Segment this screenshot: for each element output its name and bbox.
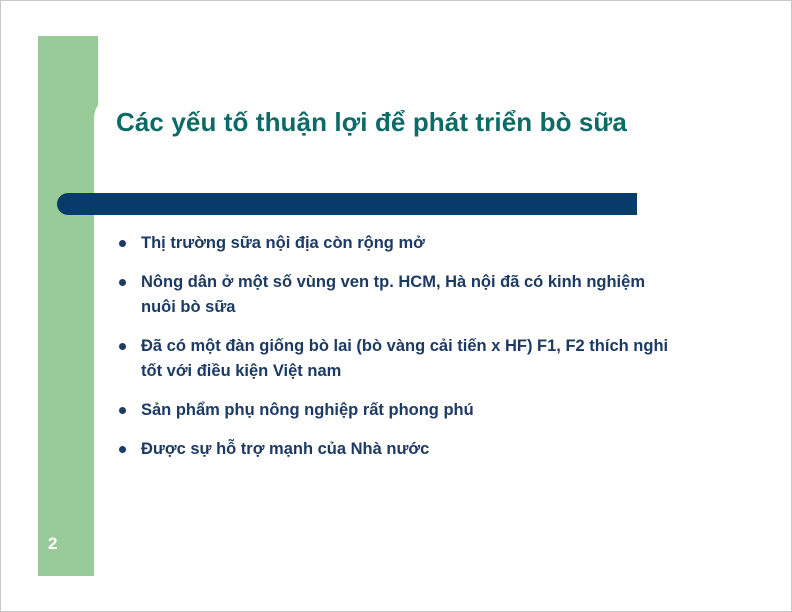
list-item: Được sự hỗ trợ mạnh của Nhà nước <box>114 437 674 462</box>
list-item-text: Sản phẩm phụ nông nghiệp rất phong phú <box>141 401 474 419</box>
list-item-text: Thị trường sữa nội địa còn rộng mở <box>141 234 425 252</box>
list-item-text: Đã có một đàn giống bò lai (bò vàng cải … <box>141 337 668 380</box>
bullet-dot-icon <box>119 407 126 414</box>
list-item: Đã có một đàn giống bò lai (bò vàng cải … <box>114 334 674 384</box>
list-item: Nông dân ở một số vùng ven tp. HCM, Hà n… <box>114 270 674 320</box>
list-item: Sản phẩm phụ nông nghiệp rất phong phú <box>114 398 674 423</box>
list-item: Thị trường sữa nội địa còn rộng mở <box>114 231 674 256</box>
bullet-list: Thị trường sữa nội địa còn rộng mở Nông … <box>114 231 674 463</box>
slide-canvas: Các yếu tố thuận lợi để phát triển bò sữ… <box>0 0 792 612</box>
bullet-dot-icon <box>119 446 126 453</box>
slide-number: 2 <box>48 534 57 554</box>
slide-title: Các yếu tố thuận lợi để phát triển bò sữ… <box>116 106 656 140</box>
title-divider-bar <box>57 193 637 215</box>
bullet-dot-icon <box>119 240 126 247</box>
list-item-text: Nông dân ở một số vùng ven tp. HCM, Hà n… <box>141 273 645 316</box>
bullet-dot-icon <box>119 343 126 350</box>
bullet-dot-icon <box>119 279 126 286</box>
green-accent-panel <box>38 36 98 576</box>
list-item-text: Được sự hỗ trợ mạnh của Nhà nước <box>141 440 429 458</box>
